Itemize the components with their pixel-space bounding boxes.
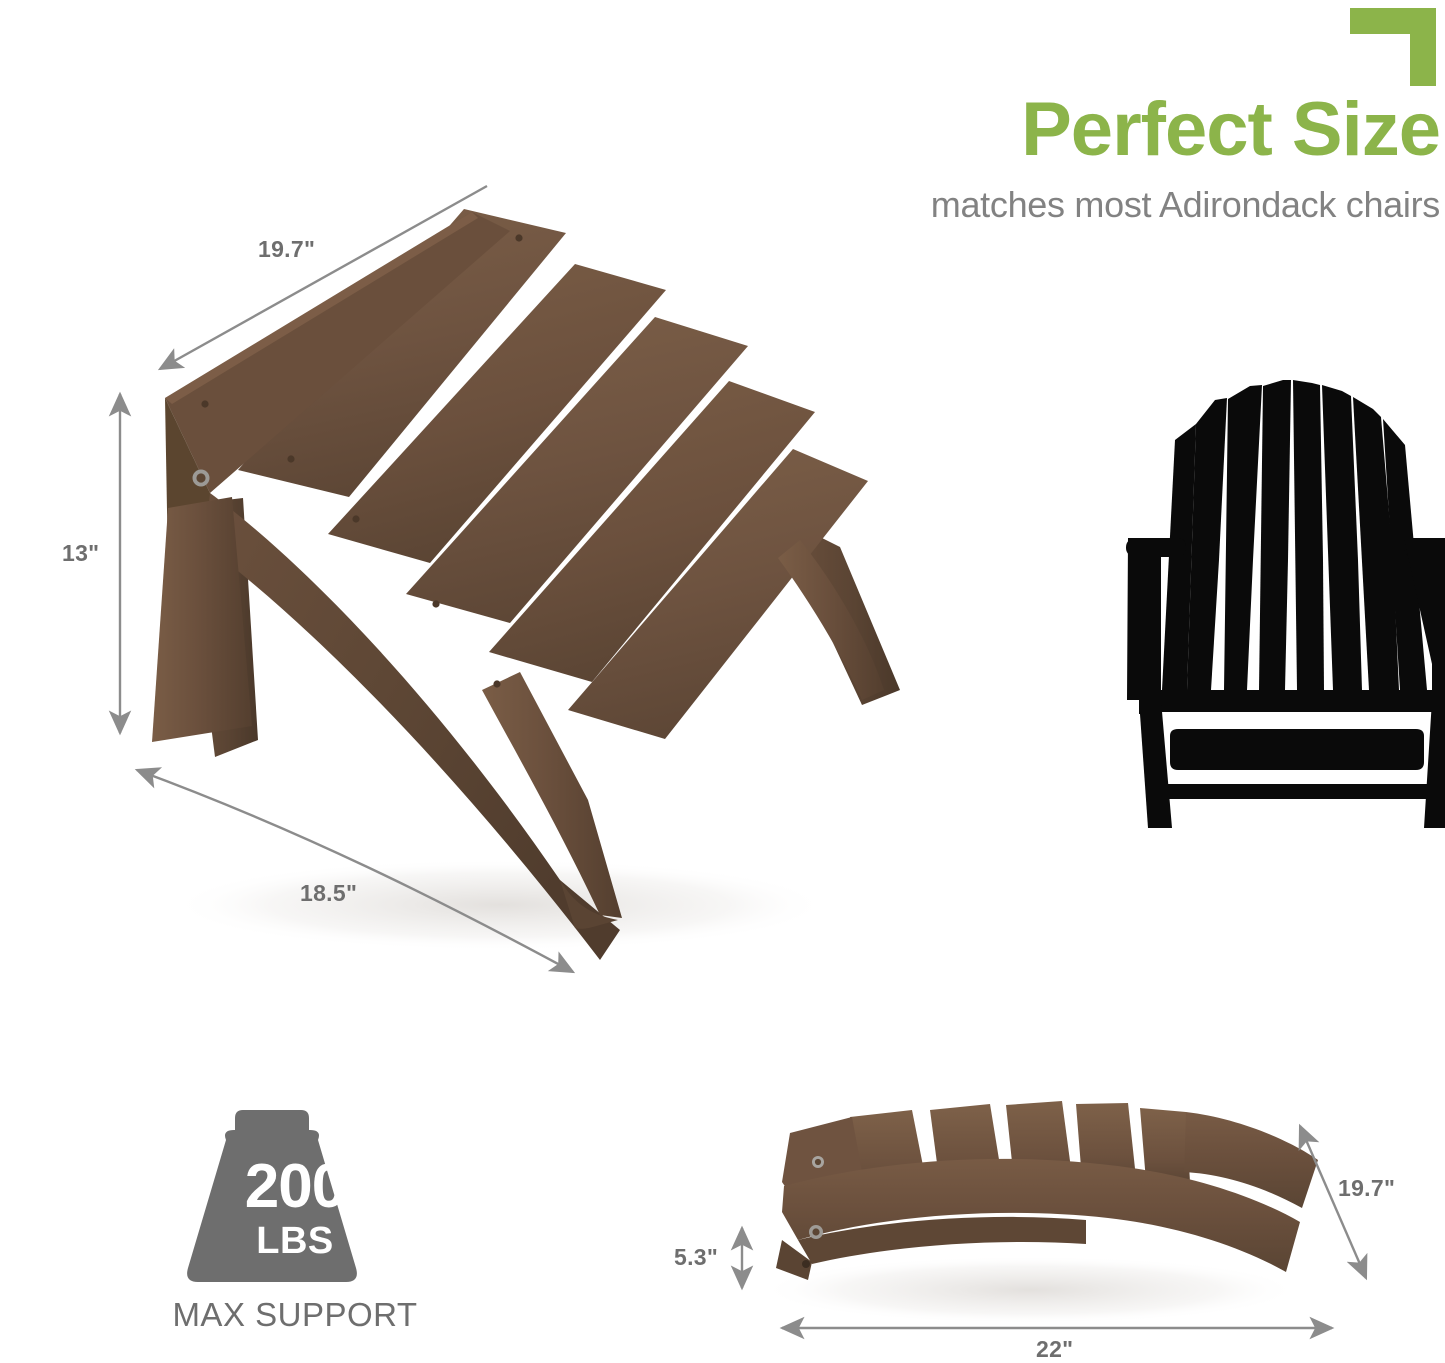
folded-slat-4: [1076, 1103, 1136, 1180]
folded-slat-1: [850, 1110, 926, 1192]
dimension-arrow-18-5: [137, 770, 573, 972]
ottoman-slat-2: [328, 264, 666, 563]
dimension-label-22: 22": [1036, 1336, 1073, 1363]
ottoman-slat-3: [406, 317, 748, 623]
ottoman-screw-2: [287, 455, 294, 462]
weight-value: 200: [185, 1156, 405, 1218]
folded-slat-3: [1006, 1101, 1072, 1181]
folded-slat-5: [1140, 1108, 1190, 1182]
folded-dimension-arrows: [742, 1126, 1366, 1328]
dimension-arrow-19-7-folded: [1300, 1126, 1366, 1278]
dimension-label-19-7: 19.7": [258, 236, 315, 263]
ottoman-screw-4: [432, 600, 439, 607]
ottoman-rail-left-face: [165, 398, 213, 640]
folded-screw-1: [802, 1260, 810, 1268]
corner-bracket-vertical: [1410, 8, 1436, 86]
adirondack-chair-silhouette-icon: [1126, 380, 1445, 828]
ottoman-screw-1: [201, 400, 208, 407]
dimension-label-18-5: 18.5": [300, 880, 357, 907]
adirondack-ottoman-3d-view: [152, 209, 900, 960]
dimension-label-5-3: 5.3": [674, 1244, 718, 1271]
max-support-caption: MAX SUPPORT: [150, 1296, 440, 1334]
weight-icon-textbox: 200 LBS: [185, 1112, 405, 1284]
ottoman-screw-3: [352, 515, 359, 522]
dimension-arrow-19-7: [160, 186, 487, 369]
folded-bolt-2: [809, 1225, 823, 1239]
adirondack-ottoman-folded-view: [776, 1101, 1318, 1280]
ottoman-curved-front-rail: [205, 493, 620, 960]
ottoman-slat-5: [568, 449, 868, 739]
ottoman-leg-back-right: [786, 520, 900, 705]
ottoman-slat-group: [238, 209, 868, 739]
corner-bracket-icon: [1350, 8, 1436, 86]
ottoman-leg-front-right: [482, 672, 622, 918]
max-support-badge: 200 LBS MAX SUPPORT: [150, 1112, 440, 1334]
folded-product-shadow: [760, 1256, 1300, 1324]
folded-front-lip: [798, 1217, 1086, 1264]
folded-bolt-1: [812, 1156, 824, 1168]
folded-end-cap: [782, 1117, 866, 1208]
headline-block: Perfect Size matches most Adirondack cha…: [640, 92, 1440, 226]
ottoman-screw-6: [515, 234, 522, 241]
ottoman-bolt-1: [193, 470, 210, 487]
dimension-label-13: 13": [62, 540, 99, 567]
folded-leg-upper: [1184, 1112, 1318, 1208]
ottoman-screw-5: [493, 680, 500, 687]
ottoman-leg-joint: [560, 880, 618, 929]
page-subtitle: matches most Adirondack chairs: [640, 184, 1440, 226]
folded-foot-tab: [776, 1240, 812, 1280]
main-dimension-arrows: [120, 186, 573, 972]
dimension-label-19-7-folded: 19.7": [1338, 1175, 1395, 1202]
ottoman-rail-top-left: [165, 212, 510, 493]
folded-slat-2: [930, 1104, 1002, 1186]
ottoman-leg-front-left: [152, 497, 252, 742]
ottoman-slat-4: [489, 381, 815, 682]
infographic-canvas: Perfect Size matches most Adirondack cha…: [0, 0, 1445, 1363]
product-shadow: [170, 859, 830, 951]
weight-unit: LBS: [185, 1222, 405, 1260]
ottoman-leg-back-left: [183, 498, 258, 757]
ottoman-leg-right-outer: [778, 540, 884, 700]
ottoman-rail-highlight: [165, 212, 478, 404]
folded-main-rail: [782, 1159, 1300, 1272]
page-title: Perfect Size: [640, 92, 1440, 168]
